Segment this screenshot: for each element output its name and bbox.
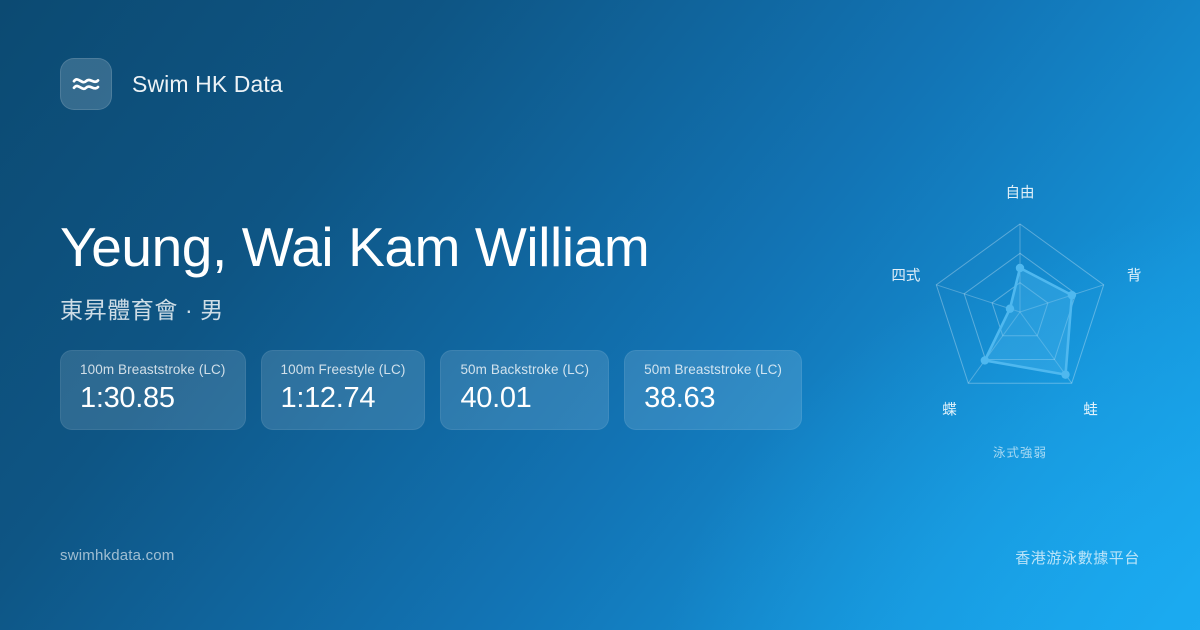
footer-tagline: 香港游泳數據平台 bbox=[1015, 547, 1140, 568]
athlete-meta: 東昇體育會 · 男 bbox=[60, 291, 860, 325]
radar-axis-label: 四式 bbox=[891, 264, 920, 285]
radar-vertex bbox=[1061, 370, 1069, 378]
stat-card: 50m Backstroke (LC)40.01 bbox=[440, 350, 609, 430]
app-logo bbox=[60, 58, 112, 110]
stat-card-value: 1:12.74 bbox=[281, 382, 406, 415]
stat-card-label: 50m Breaststroke (LC) bbox=[644, 362, 782, 377]
radar-vertex bbox=[981, 356, 989, 364]
footer-site-url: swimhkdata.com bbox=[60, 547, 175, 564]
radar-caption: 泳式強弱 bbox=[860, 442, 1180, 461]
stat-card-row: 100m Breaststroke (LC)1:30.85100m Freest… bbox=[60, 350, 802, 430]
share-card: Swim HK Data Yeung, Wai Kam William 東昇體育… bbox=[0, 0, 1200, 630]
page-title: Yeung, Wai Kam William bbox=[60, 218, 860, 277]
stat-card-value: 1:30.85 bbox=[80, 382, 226, 415]
stat-card-value: 38.63 bbox=[644, 382, 782, 415]
radar-vertex bbox=[1068, 291, 1076, 299]
stat-card-value: 40.01 bbox=[460, 382, 589, 415]
radar-axis-label: 背 bbox=[1127, 264, 1142, 285]
stat-card: 100m Freestyle (LC)1:12.74 bbox=[261, 350, 426, 430]
stat-card-label: 100m Breaststroke (LC) bbox=[80, 362, 226, 377]
stat-card-label: 50m Backstroke (LC) bbox=[460, 362, 589, 377]
stroke-strength-radar: 泳式強弱 自由背蛙蝶四式 bbox=[860, 150, 1180, 480]
radar-axis-label: 蝶 bbox=[942, 399, 957, 420]
brand-header: Swim HK Data bbox=[60, 58, 283, 110]
stat-card: 50m Breaststroke (LC)38.63 bbox=[624, 350, 802, 430]
radar-axis-label: 蛙 bbox=[1083, 399, 1098, 420]
brand-name: Swim HK Data bbox=[132, 71, 283, 98]
stat-card: 100m Breaststroke (LC)1:30.85 bbox=[60, 350, 246, 430]
radar-vertex bbox=[1016, 264, 1024, 272]
stat-card-label: 100m Freestyle (LC) bbox=[281, 362, 406, 377]
wave-icon bbox=[71, 73, 101, 95]
radar-axis-label: 自由 bbox=[1006, 182, 1035, 203]
hero-block: Yeung, Wai Kam William 東昇體育會 · 男 bbox=[60, 218, 860, 325]
radar-vertex bbox=[1006, 305, 1014, 313]
